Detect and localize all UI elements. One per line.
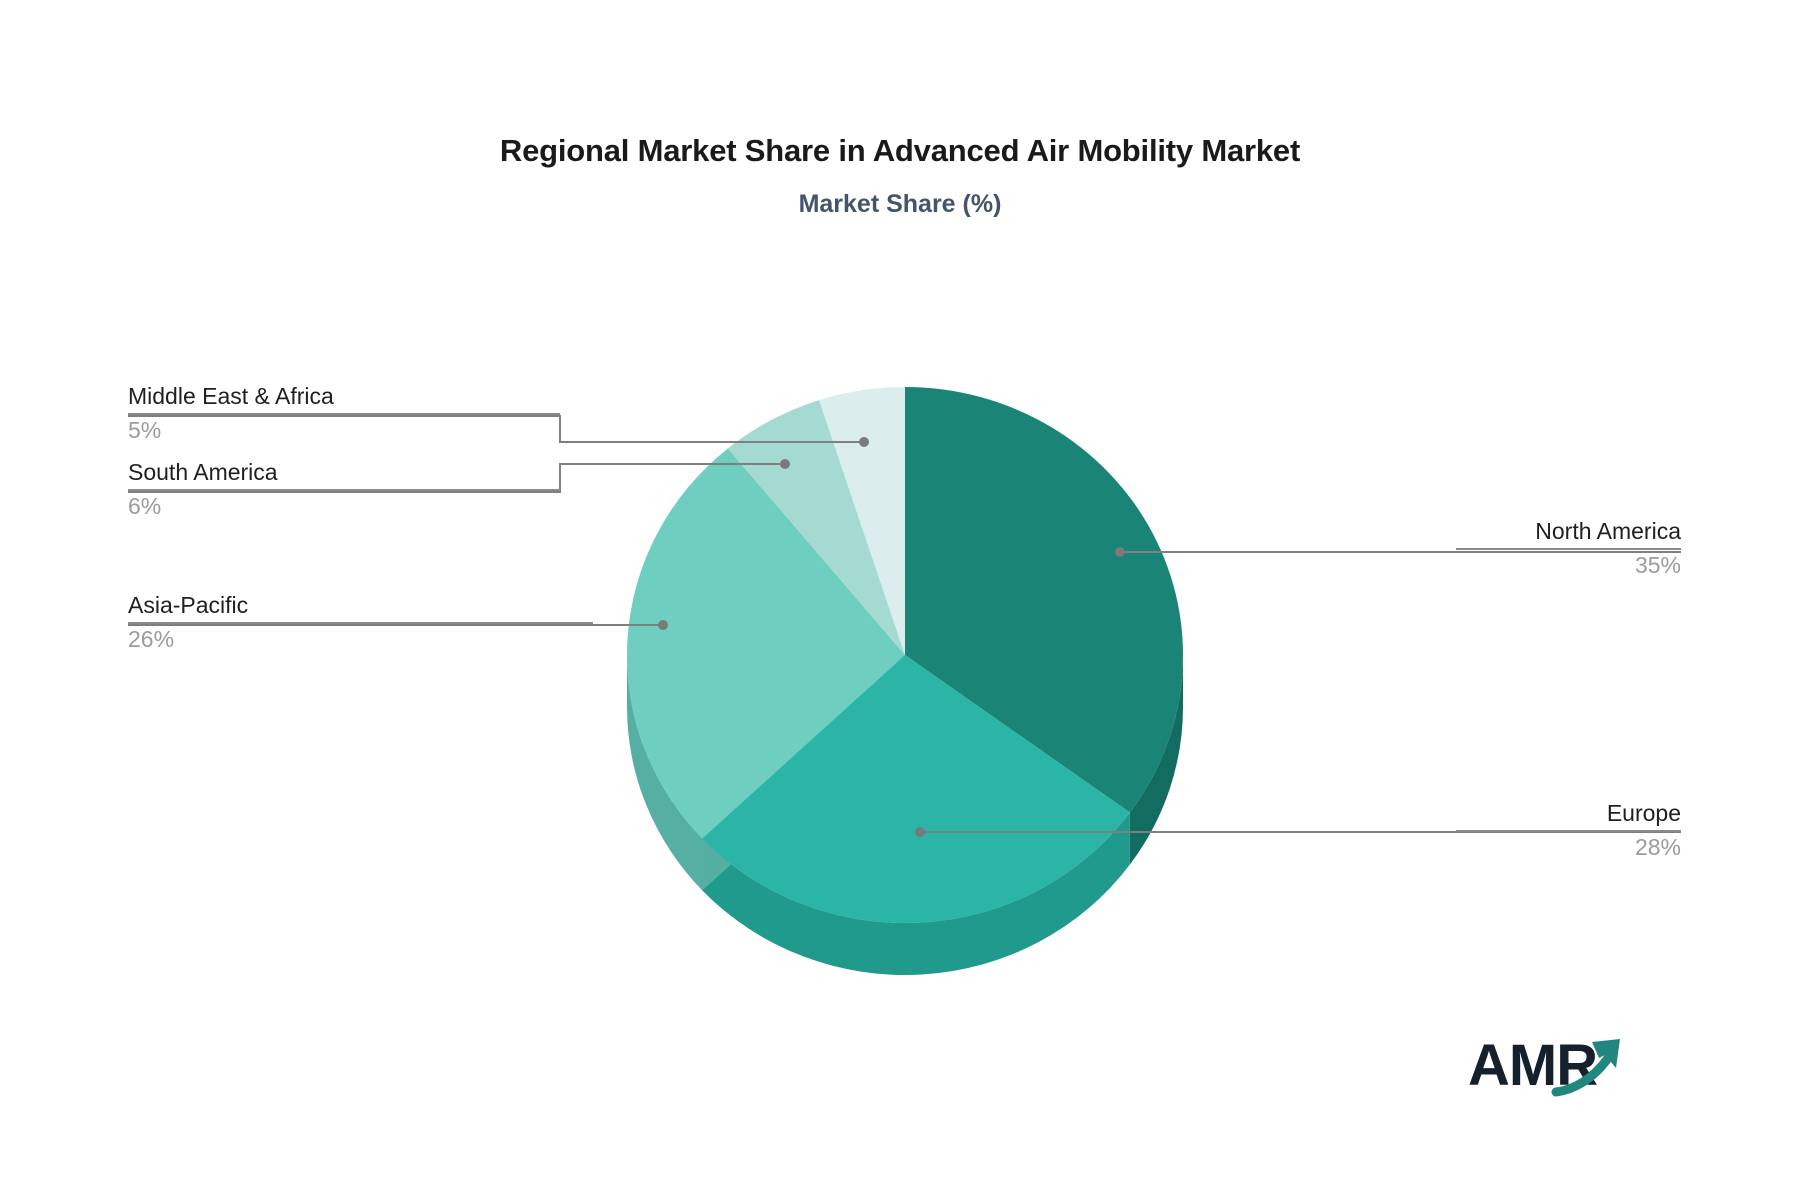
callout-asia-pacific[interactable]: Asia-Pacific 26% — [128, 592, 593, 653]
callout-label: Middle East & Africa — [128, 383, 560, 410]
callout-rule — [128, 489, 560, 491]
callout-rule — [1456, 830, 1681, 832]
callout-south-america[interactable]: South America 6% — [128, 459, 560, 520]
chart-canvas: Regional Market Share in Advanced Air Mo… — [0, 0, 1800, 1196]
callout-label: Europe — [1456, 800, 1681, 827]
callout-label: South America — [128, 459, 560, 486]
callout-label: North America — [1456, 518, 1681, 545]
growth-arrow-icon — [1468, 1030, 1638, 1100]
callout-rule — [128, 413, 560, 415]
callout-value: 35% — [1456, 552, 1681, 579]
callout-label: Asia-Pacific — [128, 592, 593, 619]
amr-logo: AMR — [1468, 1030, 1638, 1100]
callout-north-america[interactable]: North America 35% — [1456, 518, 1681, 579]
callout-value: 6% — [128, 493, 560, 520]
callout-rule — [128, 622, 593, 624]
callout-europe[interactable]: Europe 28% — [1456, 800, 1681, 861]
callout-value: 28% — [1456, 834, 1681, 861]
callout-value: 26% — [128, 626, 593, 653]
callout-value: 5% — [128, 417, 560, 444]
callout-rule — [1456, 548, 1681, 550]
callout-middle-east-africa[interactable]: Middle East & Africa 5% — [128, 383, 560, 444]
